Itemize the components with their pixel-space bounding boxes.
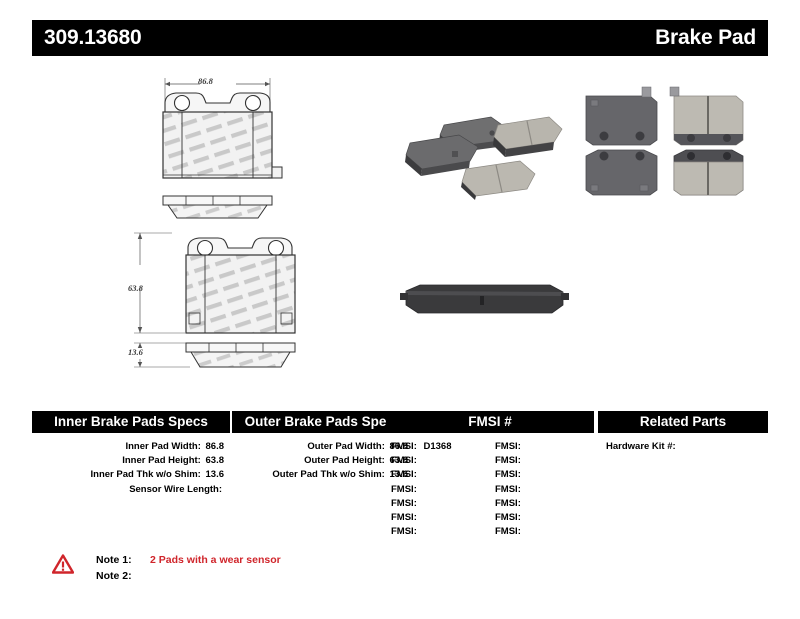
spec-value-inner-thickness: 13.6 [206,469,225,480]
fmsi-row-8: FMSI: [495,440,594,454]
fmsi-row-6: FMSI: [391,511,490,525]
column-header-related-parts: Related Parts [598,411,768,433]
spec-label-outer-height: Outer Pad Height: [304,455,385,466]
spec-label-outer-width: Outer Pad Width: [307,441,385,452]
fmsi-label-13: FMSI: [495,512,521,523]
specifications-table: Inner Brake Pads Specs Inner Pad Width: … [32,411,768,541]
cad-drawing-front-view: 86.8 [118,72,333,232]
spec-row-sensor-wire-length: Sensor Wire Length: [32,483,224,497]
notes-section: Note 1: 2 Pads with a wear sensor Note 2… [52,552,281,584]
spec-row-inner-height: Inner Pad Height: 63.8 [32,454,224,468]
fmsi-label-8: FMSI: [495,441,521,452]
edge-pad-slot [480,296,484,305]
spec-label-sensor-wire-length: Sensor Wire Length: [129,484,222,495]
fmsi-label-3: FMSI: [391,469,417,480]
header-bar: 309.13680 Brake Pad [32,20,768,56]
edge-pad-tab-right [561,293,569,300]
fmsi-label-6: FMSI: [391,512,417,523]
fmsi-label-10: FMSI: [495,469,521,480]
fmsi-row-5: FMSI: [391,497,490,511]
fmsi-row-9: FMSI: [495,454,594,468]
product-photo-flat-set [578,82,760,202]
note-1-label: Note 1: [96,552,144,568]
note-2-label: Note 2: [96,568,144,584]
column-header-inner-specs: Inner Brake Pads Specs [32,411,230,433]
spec-row-inner-width: Inner Pad Width: 86.8 [32,440,224,454]
dimension-label-height: 63.8 [128,283,143,293]
edge-pad-tab-left [400,293,408,300]
column-body-fmsi: FMSI: D1368 FMSI: FMSI: FMSI: FMSI: [386,433,594,539]
cad-drawing-rear-view: 63.8 13.6 [110,225,335,390]
fmsi-label-7: FMSI: [391,526,417,537]
fmsi-row-4: FMSI: [391,483,490,497]
pad-edge-view-2 [186,343,295,367]
fmsi-label-2: FMSI: [391,455,417,466]
note-lines: Note 1: 2 Pads with a wear sensor Note 2… [96,552,281,584]
related-label-hardware-kit: Hardware Kit #: [606,441,676,452]
wear-sensor-tab [272,167,282,178]
mounting-hole-right [246,96,261,111]
spec-label-inner-width: Inner Pad Width: [125,441,200,452]
spec-value-inner-width: 86.8 [206,441,225,452]
dimension-label-width: 86.8 [198,76,213,86]
fmsi-value-1: D1368 [424,441,452,452]
fmsi-label-4: FMSI: [391,484,417,495]
spec-label-outer-thickness: Outer Pad Thk w/o Shim: [272,469,384,480]
spec-row-outer-height: Outer Pad Height: 63.8 [232,454,408,468]
fmsi-label-1: FMSI: [391,441,417,452]
fmsi-row-12: FMSI: [495,497,594,511]
fmsi-row-3: FMSI: [391,468,490,482]
photo-flat-pad-friction-tr [670,87,743,145]
related-row-hardware-kit: Hardware Kit #: [606,440,768,454]
fmsi-row-11: FMSI: [495,483,594,497]
column-fmsi: FMSI # FMSI: D1368 FMSI: FMSI: FMSI: [386,411,594,539]
spec-label-inner-height: Inner Pad Height: [122,455,201,466]
dimension-label-thickness: 13.6 [128,347,143,357]
fmsi-row-7: FMSI: [391,525,490,539]
photo-flat-pad-friction-br [674,150,743,195]
fmsi-row-10: FMSI: [495,468,594,482]
note-row-2: Note 2: [96,568,281,584]
product-photo-angled-set [396,85,576,200]
fmsi-row-14: FMSI: [495,525,594,539]
fmsi-label-14: FMSI: [495,526,521,537]
warning-triangle-icon [52,554,74,574]
fmsi-row-2: FMSI: [391,454,490,468]
photo-flat-pad-backing-bl [586,150,657,195]
note-1-text: 2 Pads with a wear sensor [150,552,281,568]
friction-surface-2 [186,255,295,333]
spec-value-inner-height: 63.8 [206,455,225,466]
mounting-hole-right-2 [269,241,284,256]
column-inner-brake-pads: Inner Brake Pads Specs Inner Pad Width: … [32,411,230,497]
mounting-hole-left-2 [198,241,213,256]
part-number: 309.13680 [44,26,141,50]
note-row-1: Note 1: 2 Pads with a wear sensor [96,552,281,568]
fmsi-row-1: FMSI: D1368 [391,440,490,454]
mounting-hole-left [175,96,190,111]
column-body-inner-specs: Inner Pad Width: 86.8 Inner Pad Height: … [32,433,230,497]
spec-row-outer-width: Outer Pad Width: 86.8 [232,440,408,454]
fmsi-label-11: FMSI: [495,484,521,495]
fmsi-right-column: FMSI: FMSI: FMSI: FMSI: FMSI: [490,440,594,539]
spec-row-inner-thickness: Inner Pad Thk w/o Shim: 13.6 [32,468,224,482]
fmsi-label-9: FMSI: [495,455,521,466]
spec-label-inner-thickness: Inner Pad Thk w/o Shim: [91,469,201,480]
product-photo-edge-view [400,275,570,330]
fmsi-row-13: FMSI: [495,511,594,525]
spec-row-outer-thickness: Outer Pad Thk w/o Shim: 13.6 [232,468,408,482]
fmsi-left-column: FMSI: D1368 FMSI: FMSI: FMSI: FMSI: [386,440,490,539]
friction-surface [163,112,272,178]
photo-flat-pad-backing-tl [586,87,657,145]
photo-pad-c [493,117,562,157]
column-header-fmsi: FMSI # [386,411,594,433]
column-related-parts: Related Parts Hardware Kit #: [598,411,768,454]
drawings-area: 86.8 [0,60,800,395]
column-body-related-parts: Hardware Kit #: [598,433,768,454]
pad-edge-view [163,196,272,218]
product-type-label: Brake Pad [655,26,756,50]
photo-pad-d [461,161,535,200]
fmsi-label-5: FMSI: [391,498,417,509]
edge-pad-body [406,285,563,313]
fmsi-label-12: FMSI: [495,498,521,509]
